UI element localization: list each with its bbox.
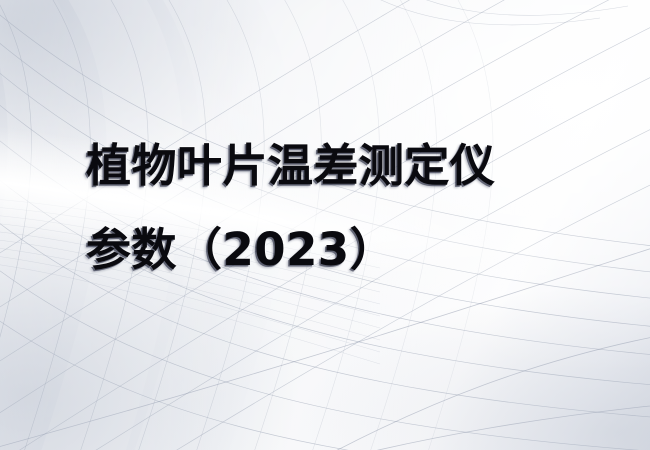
title-line-1: 植物叶片温差测定仪 bbox=[86, 124, 606, 208]
title-line-2: 参数（2023） bbox=[86, 208, 606, 292]
title-banner: 植物叶片温差测定仪 参数（2023） bbox=[0, 0, 650, 450]
page-title: 植物叶片温差测定仪 参数（2023） bbox=[86, 124, 606, 292]
